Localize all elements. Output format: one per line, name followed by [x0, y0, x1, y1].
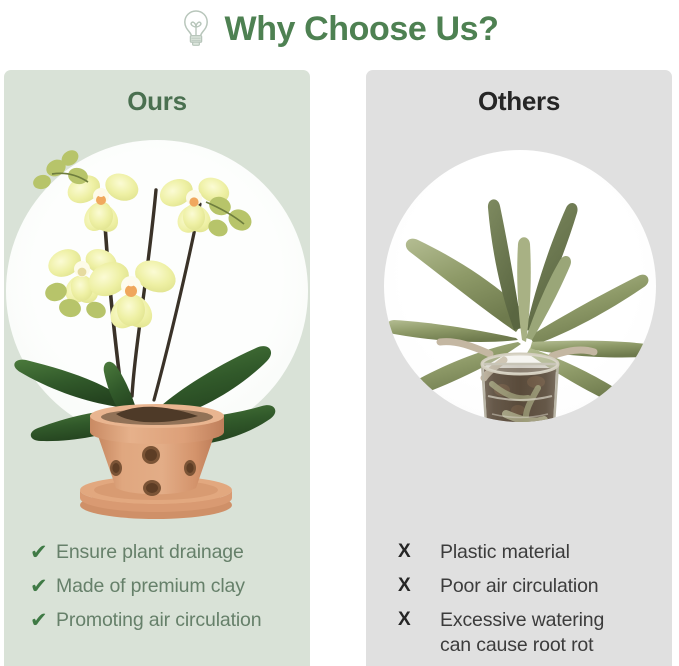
list-item: ✔ Made of premium clay: [30, 574, 300, 601]
lightbulb-icon: [181, 8, 211, 50]
orchid-plastic-pot-illustration: [366, 132, 672, 534]
list-item: ✔ Promoting air circulation: [30, 608, 300, 635]
check-icon: ✔: [30, 608, 56, 635]
page-title: Why Choose Us?: [225, 12, 499, 46]
list-item-label: Ensure plant drainage: [56, 540, 244, 565]
check-icon: ✔: [30, 540, 56, 567]
drawbacks-list-others: X Plastic material X Poor air circulatio…: [366, 540, 672, 666]
panel-others-heading: Others: [366, 88, 672, 114]
page-header: Why Choose Us?: [0, 0, 679, 58]
list-item-label: Plastic material: [440, 540, 570, 565]
x-icon: X: [388, 574, 440, 598]
list-item-label: Excessive watering can cause root rot: [440, 608, 604, 658]
product-photo-others: [366, 132, 672, 534]
orchid-clay-pot-illustration: [4, 124, 310, 534]
x-icon: X: [388, 540, 440, 564]
list-item-label-line1: Excessive watering: [440, 609, 604, 631]
product-photo-ours: [4, 124, 310, 534]
x-icon: X: [388, 608, 440, 632]
benefits-list-ours: ✔ Ensure plant drainage ✔ Made of premiu…: [4, 540, 310, 642]
list-item: X Excessive watering can cause root rot: [388, 608, 662, 658]
panel-ours-heading: Ours: [4, 88, 310, 114]
list-item-label: Poor air circulation: [440, 574, 599, 599]
why-choose-us-infographic: Why Choose Us? Ours: [0, 0, 679, 666]
list-item-label: Promoting air circulation: [56, 608, 261, 633]
list-item: X Plastic material: [388, 540, 662, 565]
panel-ours: Ours: [4, 70, 310, 666]
list-item: ✔ Ensure plant drainage: [30, 540, 300, 567]
list-item: X Poor air circulation: [388, 574, 662, 599]
list-item-label: Made of premium clay: [56, 574, 245, 599]
list-item-label-line2: can cause root rot: [440, 633, 604, 658]
panel-others: Others: [366, 70, 672, 666]
check-icon: ✔: [30, 574, 56, 601]
